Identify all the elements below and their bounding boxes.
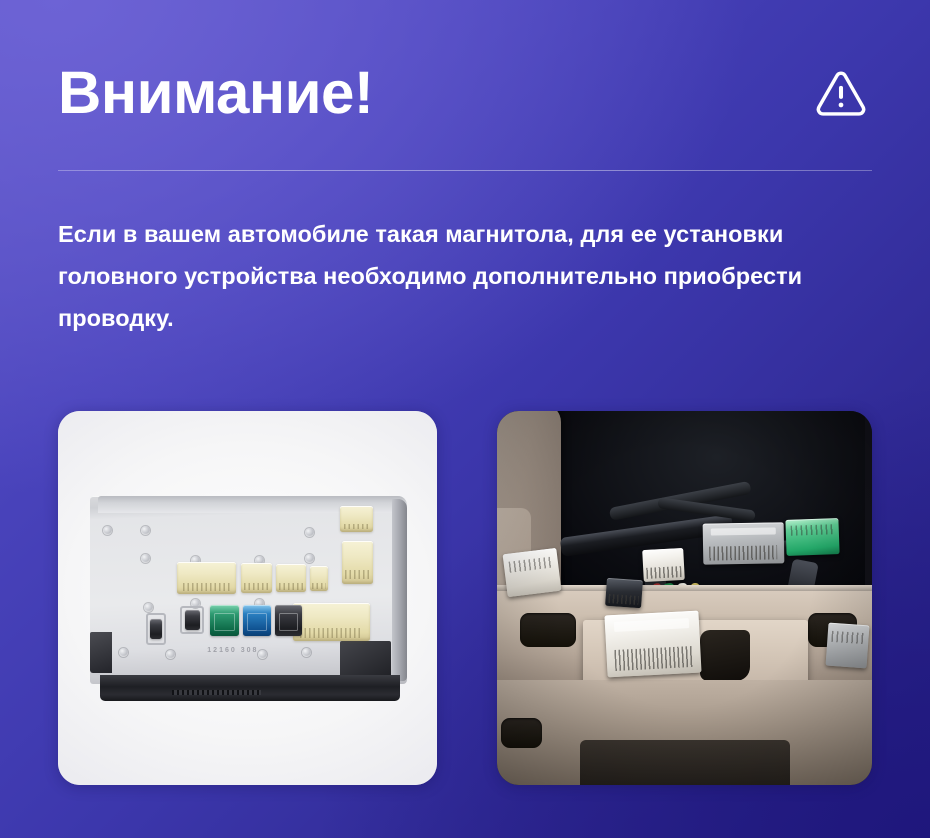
warning-triangle-icon xyxy=(814,66,868,120)
connector-pins xyxy=(831,631,865,644)
harness-connector-grey-right xyxy=(826,623,870,669)
connector-pins xyxy=(608,594,639,606)
connector-blue-inner xyxy=(247,613,267,630)
warning-banner: Внимание! Если в вашем автомобиле такая … xyxy=(0,0,930,838)
connector-pins xyxy=(791,525,833,536)
connector-black-small xyxy=(150,619,162,639)
chassis-screw xyxy=(141,554,150,563)
port-frame xyxy=(180,606,204,634)
port-frame xyxy=(146,613,166,645)
dashboard-recess-bottom-left xyxy=(501,718,542,748)
warning-paragraph: Если в вашем автомобиле такая магнитола,… xyxy=(58,213,882,339)
connector-cream-small xyxy=(310,566,328,591)
photo-card-wiring-harness xyxy=(497,411,872,785)
harness-connector-white-large xyxy=(604,611,701,678)
banner-header: Внимание! xyxy=(58,48,872,138)
chassis-screw xyxy=(141,526,150,535)
chassis-bottom-bar xyxy=(100,675,401,701)
connector-green-inner xyxy=(214,613,235,630)
tray-cutout xyxy=(700,630,750,681)
harness-connector-white-center xyxy=(642,548,685,582)
connector-pins xyxy=(508,556,553,572)
connector-ridge xyxy=(614,618,689,632)
connector-cream-wide xyxy=(177,562,236,594)
dashboard-recess-left xyxy=(520,613,576,647)
connector-green xyxy=(210,605,238,636)
connector-ridge xyxy=(711,528,776,536)
dashboard-lower-recess xyxy=(580,740,790,785)
connector-pins xyxy=(613,645,693,670)
harness-connector-green xyxy=(785,519,839,556)
chassis-stamp: 12160 308 xyxy=(207,647,258,654)
connector-black-inner xyxy=(279,613,298,630)
chassis-screw xyxy=(305,528,314,537)
head-unit-chassis: 12160 308 xyxy=(90,496,406,685)
connector-cream-right-mid xyxy=(342,541,374,584)
chassis-bottom-right-block xyxy=(340,641,391,677)
connector-pins xyxy=(647,566,682,579)
page-title: Внимание! xyxy=(58,63,373,123)
connector-cream-right-top xyxy=(340,506,373,532)
connector-black-rca xyxy=(275,605,302,636)
header-divider xyxy=(58,170,872,171)
chassis-screw xyxy=(103,526,112,535)
connector-pins xyxy=(710,546,778,561)
connector-cream-medium xyxy=(241,563,273,593)
dashboard-wiring-harness-photo xyxy=(497,411,872,785)
car-head-unit-rear-photo: 12160 308 xyxy=(58,411,437,785)
connector-blue xyxy=(243,605,271,636)
harness-connector-black xyxy=(605,578,642,608)
chassis-left-notch xyxy=(90,632,112,674)
connector-black-hdmi xyxy=(185,610,200,629)
harness-connector-grey-wide xyxy=(703,522,784,565)
photo-card-head-unit: 12160 308 xyxy=(58,411,437,785)
connector-cream-medium xyxy=(276,564,306,591)
connector-cream-large xyxy=(293,603,371,641)
chassis-vent xyxy=(172,690,261,695)
photo-gallery: 12160 308 xyxy=(58,411,872,785)
chassis-right-side xyxy=(392,499,406,680)
harness-connector-white-left xyxy=(502,548,561,597)
